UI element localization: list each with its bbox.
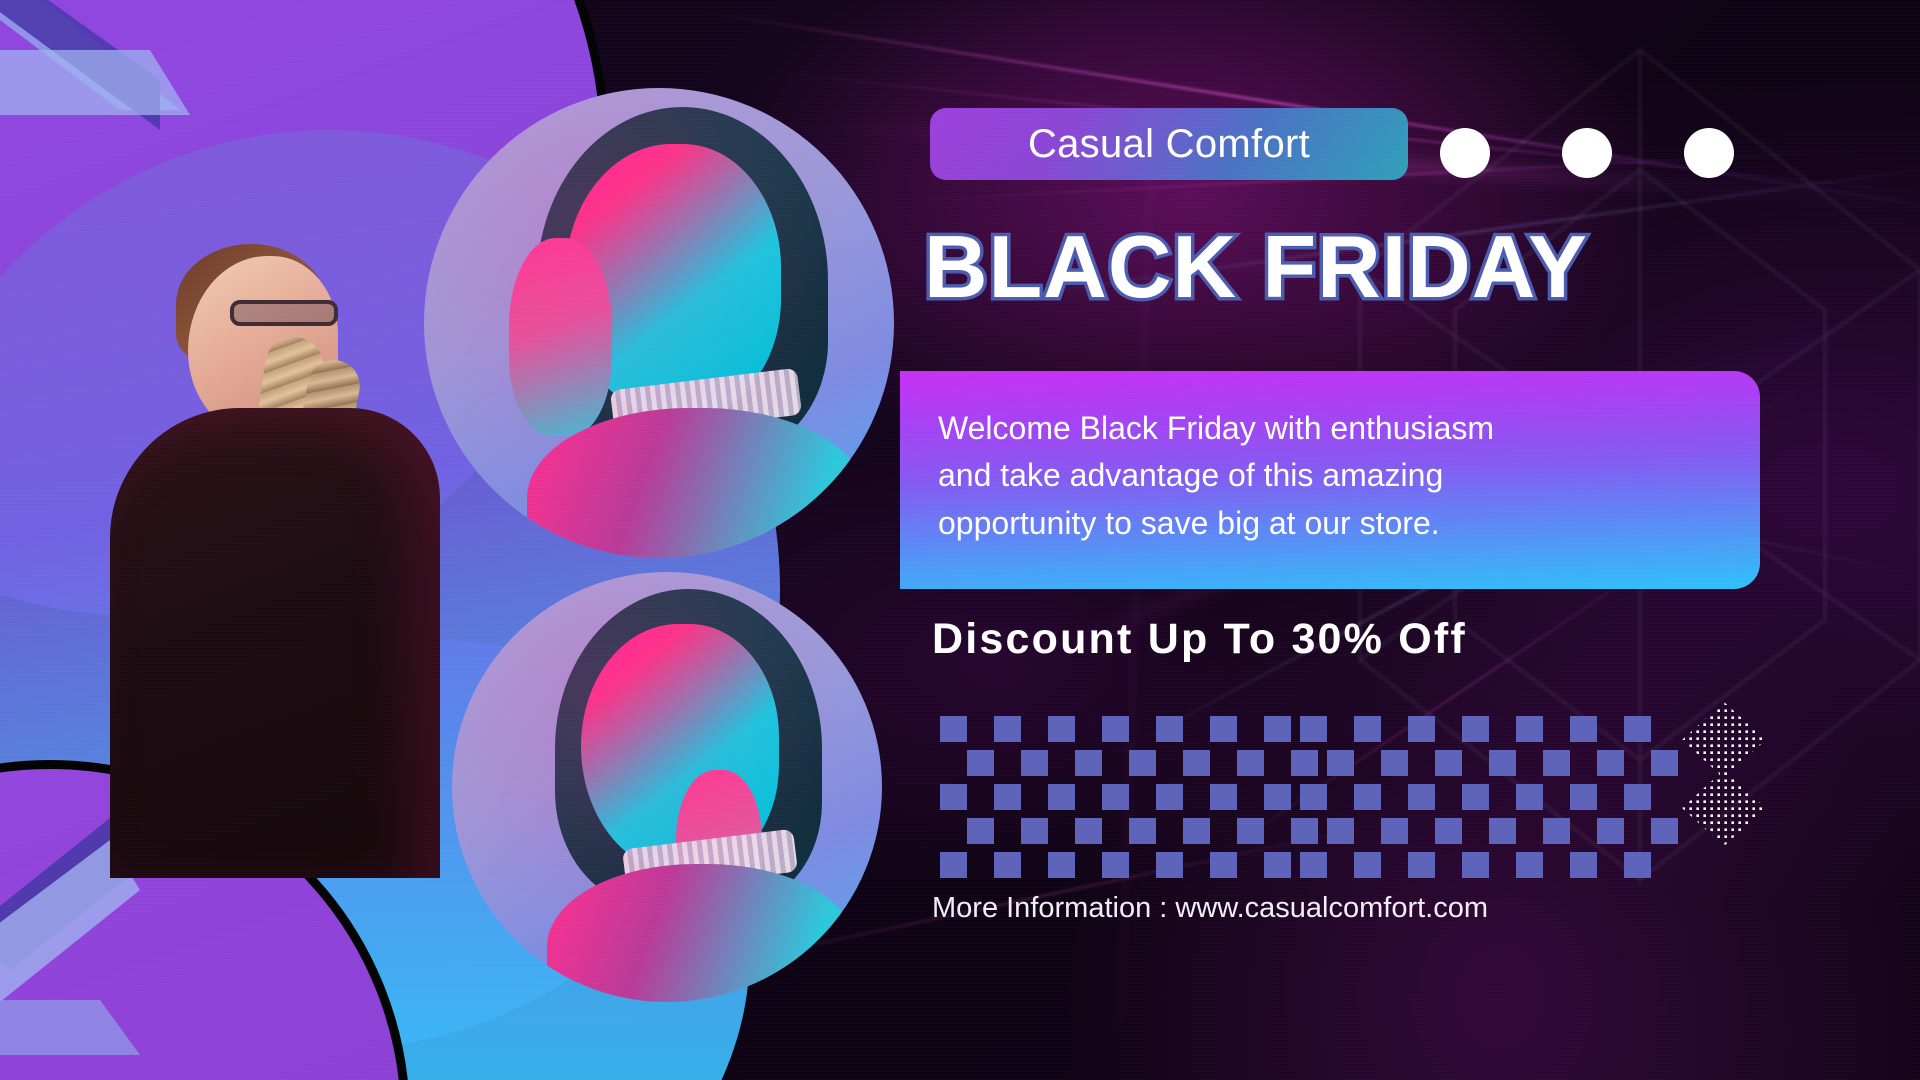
dot-icon [1684,128,1734,178]
checker-cell [1489,852,1516,878]
checker-cell [1327,852,1354,878]
checker-cell [1156,818,1183,844]
checker-cell [1075,852,1102,878]
checker-cell [1237,784,1264,810]
checker-cell [1021,818,1048,844]
checker-cell [1381,716,1408,742]
checker-cell [1156,750,1183,776]
checker-cell [1381,818,1408,844]
checker-cell [1327,818,1354,844]
checker-cell [1237,818,1264,844]
checker-cell [1408,716,1435,742]
checker-cell [1543,852,1570,878]
checker-cell [1237,750,1264,776]
checker-cell [1516,716,1543,742]
checker-cell [1570,852,1597,878]
checker-cell [1408,750,1435,776]
checker-cell [1597,750,1624,776]
checker-cell [1354,852,1381,878]
checker-cell [1543,818,1570,844]
checker-cell [940,750,967,776]
checker-cell [994,818,1021,844]
checker-cell [1543,784,1570,810]
checker-cell [1489,784,1516,810]
checker-cell [1048,818,1075,844]
checker-cell [1516,818,1543,844]
checker-cell [1048,716,1075,742]
checker-cell [1129,716,1156,742]
checker-cell [1075,784,1102,810]
checker-cell [1300,784,1327,810]
black-friday-banner: Casual Comfort BLACK FRIDAY Welcome Blac… [0,0,1920,1080]
brand-badge[interactable]: Casual Comfort [930,108,1408,180]
checker-cell [1300,852,1327,878]
discount-headline: Discount Up To 30% Off [932,615,1812,664]
checker-cell [1048,750,1075,776]
checker-cell [1075,716,1102,742]
checker-cell [1264,852,1291,878]
checker-cell [1489,716,1516,742]
checker-cell [1435,852,1462,878]
checker-cell [967,852,994,878]
footer-more-info[interactable]: More Information : www.casualcomfort.com [932,892,1832,925]
checker-cell [1651,784,1678,810]
checker-pattern-right [1300,716,1678,878]
checker-cell [940,818,967,844]
checker-cell [1516,750,1543,776]
checker-cell [1129,852,1156,878]
portrait-circle-top [424,88,894,558]
checker-cell [1624,716,1651,742]
checker-cell [1183,818,1210,844]
checker-cell [1210,784,1237,810]
checker-cell [1300,750,1327,776]
checker-cell [1102,784,1129,810]
checker-cell [1354,818,1381,844]
checker-cell [1129,784,1156,810]
checker-cell [994,784,1021,810]
checker-cell [1624,750,1651,776]
diamond-dots-icon [1680,700,1768,848]
checker-cell [1462,716,1489,742]
checker-cell [1156,716,1183,742]
checker-cell [1102,750,1129,776]
checker-cell [1597,818,1624,844]
checker-cell [1462,852,1489,878]
checker-cell [940,716,967,742]
checker-cell [1408,784,1435,810]
checker-cell [1408,852,1435,878]
checker-cell [1327,750,1354,776]
checker-cell [1624,818,1651,844]
checker-cell [1624,852,1651,878]
checker-cell [1543,716,1570,742]
checker-cell [1021,716,1048,742]
checker-cell [1354,716,1381,742]
checker-cell [967,818,994,844]
checker-cell [1210,750,1237,776]
checker-cell [1489,818,1516,844]
checker-cell [1210,852,1237,878]
checker-cell [1462,784,1489,810]
checker-cell [1075,818,1102,844]
checker-cell [1651,818,1678,844]
checker-cell [1597,716,1624,742]
checker-cell [1300,818,1327,844]
checker-cell [1651,716,1678,742]
checker-cell [940,852,967,878]
checker-cell [1624,784,1651,810]
checker-cell [1651,750,1678,776]
checker-cell [967,784,994,810]
checker-cell [1570,716,1597,742]
checker-cell [1570,750,1597,776]
checker-cell [1327,784,1354,810]
checker-cell [1570,818,1597,844]
checker-cell [1543,750,1570,776]
checker-cell [1597,852,1624,878]
dot-icon [1562,128,1612,178]
checker-cell [1435,818,1462,844]
sunglasses-icon [230,300,338,326]
checker-cell [1354,784,1381,810]
checker-cell [967,716,994,742]
checker-cell [1021,852,1048,878]
checker-cell [1264,750,1291,776]
decor-dots [1440,128,1734,178]
checker-cell [967,750,994,776]
portrait-circle-bottom [452,572,882,1002]
checker-cell [1048,784,1075,810]
checker-cell [1264,818,1291,844]
checker-cell [1237,852,1264,878]
checker-cell [1354,750,1381,776]
penrose-triangle-icon [0,0,220,170]
dot-icon [1440,128,1490,178]
checker-cell [1210,818,1237,844]
checker-cell [1435,750,1462,776]
checker-cell [1075,750,1102,776]
checker-cell [1408,818,1435,844]
checker-cell [1021,784,1048,810]
checker-cell [1489,750,1516,776]
checker-cell [1597,784,1624,810]
checker-cell [1381,750,1408,776]
description-text: Welcome Black Friday with enthusiasm and… [938,405,1718,547]
checker-cell [1327,716,1354,742]
checker-cell [1264,784,1291,810]
checker-cell [1516,852,1543,878]
checker-cell [1237,716,1264,742]
checker-cell [994,852,1021,878]
checker-cell [1183,784,1210,810]
checker-cell [1183,852,1210,878]
checker-cell [1102,852,1129,878]
page-title: BLACK FRIDAY [924,216,1804,318]
checker-cell [994,750,1021,776]
model-left-photo [80,238,470,878]
checker-cell [1264,716,1291,742]
checker-cell [1435,716,1462,742]
checker-cell [1021,750,1048,776]
checker-cell [994,716,1021,742]
checker-cell [940,784,967,810]
checker-cell [1651,852,1678,878]
checker-cell [1048,852,1075,878]
description-panel: Welcome Black Friday with enthusiasm and… [900,371,1760,589]
checker-pattern-left [940,716,1318,878]
checker-cell [1381,852,1408,878]
checker-cell [1129,750,1156,776]
checker-cell [1156,784,1183,810]
checker-cell [1183,716,1210,742]
checker-cell [1210,716,1237,742]
checker-cell [1102,818,1129,844]
checker-cell [1129,818,1156,844]
checker-cell [1102,716,1129,742]
checker-cell [1462,818,1489,844]
checker-cell [1462,750,1489,776]
checker-cell [1381,784,1408,810]
checker-cell [1300,716,1327,742]
checker-cell [1183,750,1210,776]
checker-cell [1156,852,1183,878]
checker-cell [1570,784,1597,810]
checker-cell [1516,784,1543,810]
checker-cell [1435,784,1462,810]
brand-badge-label: Casual Comfort [1028,122,1310,167]
